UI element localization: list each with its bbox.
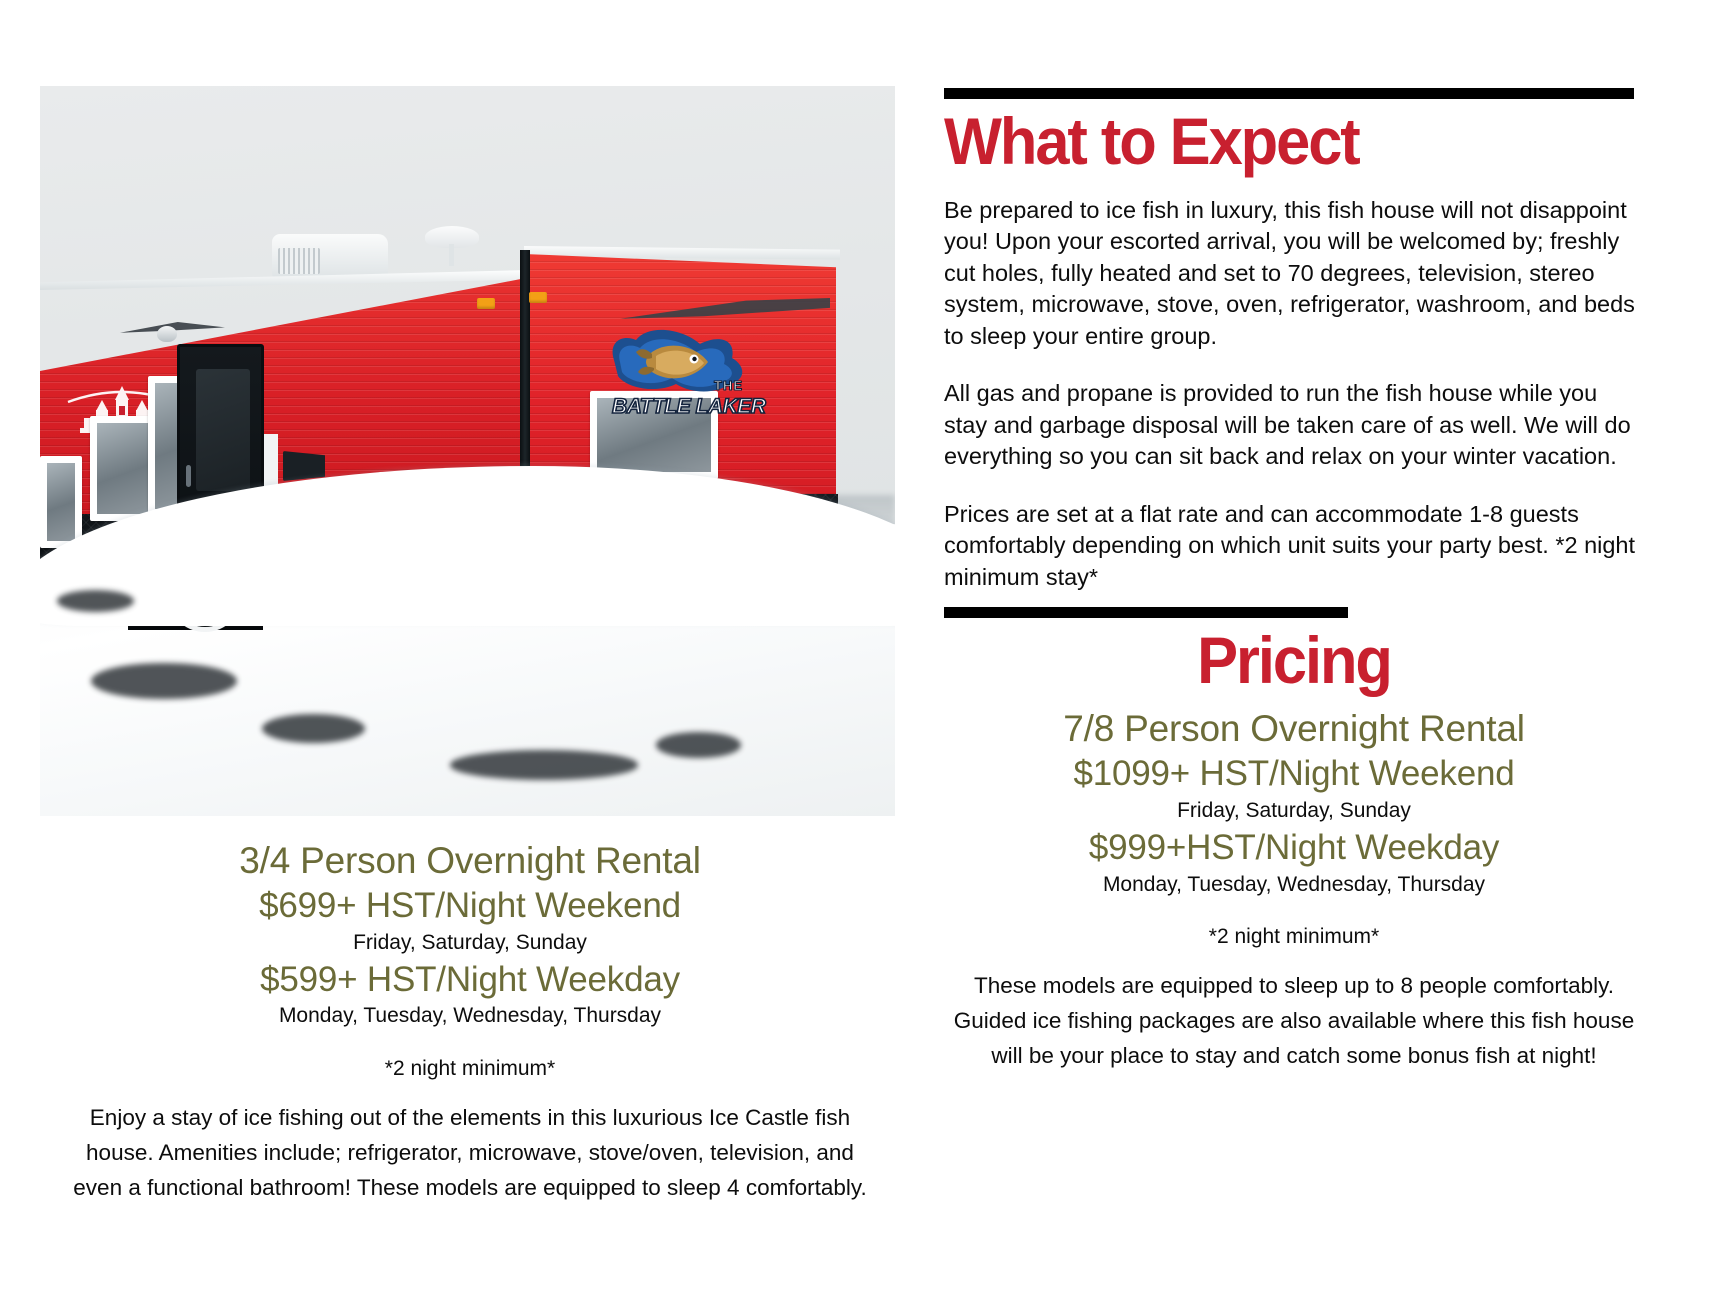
snow-dirt-patch bbox=[450, 750, 638, 779]
battle-laker-decal: THE BATTLE LAKER bbox=[596, 318, 771, 426]
left-weekend-days: Friday, Saturday, Sunday bbox=[60, 929, 880, 957]
what-to-expect-heading: What to Expect bbox=[944, 105, 1595, 179]
clearance-marker-light-1 bbox=[477, 298, 495, 309]
window-far-left bbox=[40, 456, 82, 548]
wall-vent bbox=[283, 451, 325, 481]
snow-dirt-patch bbox=[57, 590, 134, 612]
left-package-title: 3/4 Person Overnight Rental bbox=[60, 838, 880, 883]
right-weekday-days: Monday, Tuesday, Wednesday, Thursday bbox=[944, 871, 1644, 899]
door-handle bbox=[186, 465, 191, 487]
right-minimum-stay-note: *2 night minimum* bbox=[944, 925, 1644, 949]
left-weekday-days: Monday, Tuesday, Wednesday, Thursday bbox=[60, 1002, 880, 1030]
divider-rule-top bbox=[944, 88, 1634, 99]
right-package-description: These models are equipped to sleep up to… bbox=[944, 969, 1644, 1074]
snow-dirt-patch bbox=[262, 714, 365, 743]
left-column: THE BATTLE LAKER bbox=[40, 0, 895, 1290]
right-pricing-block: 7/8 Person Overnight Rental $1099+ HST/N… bbox=[944, 706, 1644, 1073]
right-package-title: 7/8 Person Overnight Rental bbox=[944, 706, 1644, 751]
what-to-expect-paragraph-2: All gas and propane is provided to run t… bbox=[944, 378, 1644, 472]
left-weekend-price: $699+ HST/Night Weekend bbox=[60, 883, 880, 929]
right-weekend-price: $1099+ HST/Night Weekend bbox=[944, 751, 1644, 797]
satellite-dish-stem bbox=[449, 244, 454, 266]
right-weekday-price: $999+HST/Night Weekday bbox=[944, 825, 1644, 871]
ac-vent-grille bbox=[278, 248, 320, 274]
door-window bbox=[196, 369, 250, 491]
svg-text:THE: THE bbox=[714, 378, 743, 393]
pricing-heading: Pricing bbox=[969, 624, 1620, 698]
left-weekday-price: $599+ HST/Night Weekday bbox=[60, 957, 880, 1003]
right-column: What to Expect Be prepared to ice fish i… bbox=[944, 0, 1644, 1290]
flyer-page: THE BATTLE LAKER bbox=[0, 0, 1722, 1290]
left-minimum-stay-note: *2 night minimum* bbox=[60, 1057, 880, 1081]
right-weekend-days: Friday, Saturday, Sunday bbox=[944, 797, 1644, 825]
snow-dirt-patch bbox=[656, 732, 742, 758]
what-to-expect-paragraph-1: Be prepared to ice fish in luxury, this … bbox=[944, 195, 1644, 352]
divider-rule-pricing bbox=[944, 607, 1348, 618]
exterior-light-icon bbox=[157, 326, 177, 342]
snow-dirt-patch bbox=[91, 663, 236, 700]
clearance-marker-light-2 bbox=[529, 292, 547, 303]
what-to-expect-paragraph-3: Prices are set at a flat rate and can ac… bbox=[944, 499, 1644, 593]
fish-house-photo: THE BATTLE LAKER bbox=[40, 86, 895, 816]
svg-text:BATTLE LAKER: BATTLE LAKER bbox=[612, 395, 767, 418]
left-pricing-block: 3/4 Person Overnight Rental $699+ HST/Ni… bbox=[60, 838, 880, 1205]
left-package-description: Enjoy a stay of ice fishing out of the e… bbox=[60, 1101, 880, 1206]
